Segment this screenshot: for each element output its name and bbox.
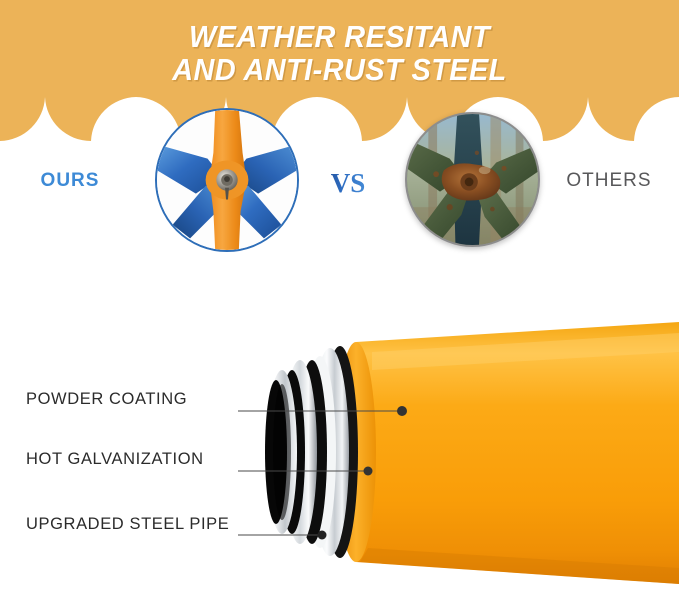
ours-product-image [155, 108, 299, 252]
rusted-joint-illustration [407, 114, 538, 245]
ours-label: OURS [10, 170, 130, 192]
page-title: WEATHER RESITANT AND ANTI-RUST STEEL [24, 20, 655, 86]
callout-label-hot-galvanization: HOT GALVANIZATION [26, 450, 204, 469]
callout-dot-upgraded-steel-pipe [318, 531, 327, 540]
callout-dot-hot-galvanization [364, 467, 373, 476]
blue-orange-joint-illustration [157, 110, 297, 250]
callout-label-upgraded-steel-pipe: UPGRADED STEEL PIPE [26, 515, 229, 534]
others-label: OTHERS [549, 170, 669, 192]
others-product-image [405, 112, 540, 247]
product-diagram-section: POWDER COATING HOT GALVANIZATION UPGRADE… [0, 300, 679, 600]
comparison-section: OURS [0, 100, 679, 275]
callout-dot-powder-coating [397, 406, 407, 416]
versus-label: VS [312, 168, 384, 199]
callout-label-powder-coating: POWDER COATING [26, 390, 187, 409]
infographic-page: WEATHER RESITANT AND ANTI-RUST STEEL OUR… [0, 0, 679, 600]
